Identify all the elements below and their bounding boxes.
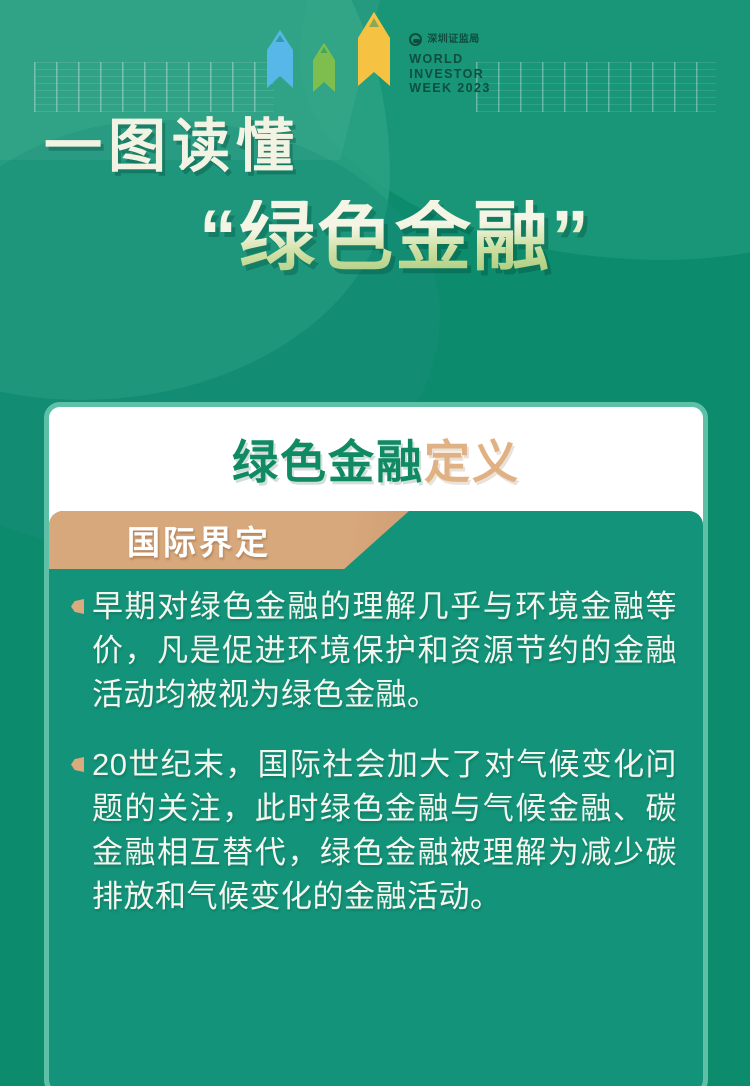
headline-line-1: 一图读懂 bbox=[44, 118, 750, 176]
section-ribbon: 国际界定 bbox=[49, 511, 409, 569]
wiw-line-1: WORLD bbox=[409, 52, 490, 67]
paragraph-item: 早期对绿色金融的理解几乎与环境金融等价，凡是促进环境保护和资源节约的金融活动均被… bbox=[71, 585, 677, 717]
paragraph-list: 早期对绿色金融的理解几乎与环境金融等价，凡是促进环境保护和资源节约的金融活动均被… bbox=[49, 569, 703, 919]
regulator-name: 深圳证监局 bbox=[427, 35, 480, 45]
bullet-marker-icon bbox=[71, 757, 84, 772]
pencil-blue-icon bbox=[259, 26, 301, 100]
pencil-yellow-icon bbox=[347, 8, 401, 100]
pencil-green-icon bbox=[306, 40, 342, 100]
wiw-line-3: WEEK 2023 bbox=[409, 81, 490, 96]
bullet-marker-icon bbox=[71, 599, 84, 614]
paragraph-text: 20世纪末，国际社会加大了对气候变化问题的关注，此时绿色金融与气候金融、碳金融相… bbox=[92, 743, 677, 919]
wiw-line-2: INVESTOR bbox=[409, 67, 490, 82]
world-investor-week-logo: 深圳证监局 WORLD INVESTOR WEEK 2023 bbox=[0, 8, 750, 100]
paragraph-item: 20世纪末，国际社会加大了对气候变化问题的关注，此时绿色金融与气候金融、碳金融相… bbox=[71, 743, 677, 919]
content-card: 绿色金融定义 国际界定 早期对绿色金融的理解几乎与环境金融等价，凡是促进环境保护… bbox=[44, 402, 708, 1086]
card-title-secondary: 定义 bbox=[424, 426, 520, 492]
paragraph-text: 早期对绿色金融的理解几乎与环境金融等价，凡是促进环境保护和资源节约的金融活动均被… bbox=[92, 585, 677, 717]
pencil-group-icon bbox=[259, 8, 401, 100]
headline-line-2: “绿色金融” bbox=[0, 200, 750, 276]
regulator-mark-icon bbox=[409, 33, 422, 46]
regulator-brand: 深圳证监局 bbox=[409, 32, 490, 48]
headline: 一图读懂 “绿色金融” bbox=[0, 118, 750, 276]
logo-text-block: 深圳证监局 WORLD INVESTOR WEEK 2023 bbox=[409, 32, 490, 100]
wiw-title: WORLD INVESTOR WEEK 2023 bbox=[409, 52, 490, 96]
card-body: 国际界定 早期对绿色金融的理解几乎与环境金融等价，凡是促进环境保护和资源节约的金… bbox=[49, 511, 703, 1086]
card-title-primary: 绿色金融 bbox=[232, 426, 424, 492]
card-title: 绿色金融定义 bbox=[49, 407, 703, 511]
section-ribbon-label: 国际界定 bbox=[127, 516, 271, 564]
